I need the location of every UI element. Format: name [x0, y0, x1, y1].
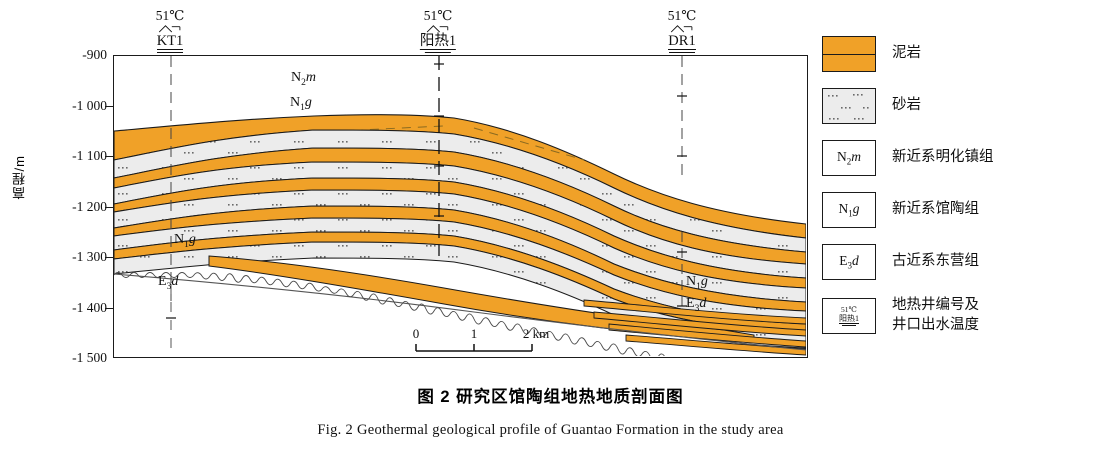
well-name: KT1: [157, 33, 184, 50]
legend-label: 砂岩: [892, 96, 921, 116]
cross-section-plot: N2m N1g N1g E3d N1g E3d: [113, 55, 808, 358]
well-name-underline: [669, 52, 695, 53]
legend-item-mudstone: 泥岩: [822, 28, 1094, 80]
n2m-code-swatch: N2m: [822, 140, 876, 176]
derrick-icon: [423, 24, 453, 33]
n1g-code-swatch: N1g: [822, 192, 876, 228]
well-name-underline: [425, 52, 451, 53]
well-temperature: 51℃: [155, 8, 185, 24]
n2m-code: N2m: [837, 149, 861, 167]
well-head-yangre1: 51℃ 阳热1: [420, 8, 456, 53]
well-symbol-temperature: 51℃: [841, 306, 857, 314]
well-name-underline: [157, 52, 183, 53]
well-name: 阳热1: [420, 33, 456, 50]
y-tick-label: -1 100: [41, 148, 107, 164]
y-tick-label: -1 200: [41, 199, 107, 215]
legend-item-e3d: E3d 古近系东营组: [822, 236, 1094, 288]
y-axis-tick-labels: -900 -1 000 -1 100 -1 200 -1 300 -1 400 …: [35, 0, 107, 375]
scale-tick-0: 0: [413, 326, 420, 342]
derrick-icon: [667, 24, 697, 33]
well-name: DR1: [668, 33, 695, 50]
well-temperature: 51℃: [667, 8, 697, 24]
formation-label-n1g-upper: N1g: [290, 95, 312, 113]
well-head-dr1: 51℃ DR1: [667, 8, 697, 53]
n1g-code: N1g: [839, 201, 860, 219]
formation-label-n2m: N2m: [291, 70, 316, 88]
legend: 泥岩 砂岩: [822, 28, 1094, 344]
y-tick-label: -1 000: [41, 98, 107, 114]
figure-caption-english: Fig. 2 Geothermal geological profile of …: [0, 422, 1101, 439]
legend-item-well-symbol: 51℃ 阳热1 地热井编号及 井口出水温度: [822, 288, 1094, 344]
scale-bar-graphic: [408, 342, 548, 356]
legend-label: 新近系馆陶组: [892, 200, 979, 220]
geological-profile-figure: 高程/m -900 -1 000 -1 100 -1 200 -1 300 -1…: [0, 0, 1101, 375]
derrick-icon: [155, 24, 185, 33]
e3d-code: E3d: [839, 253, 859, 271]
well-symbol-swatch: 51℃ 阳热1: [822, 298, 876, 334]
figure-caption-chinese: 图 2 研究区馆陶组地热地质剖面图: [0, 383, 1101, 407]
scale-tick-1: 1: [471, 326, 478, 342]
sandstone-swatch: [822, 88, 876, 124]
formation-label-e3d-left: E3d: [158, 274, 178, 292]
legend-label: 古近系东营组: [892, 252, 979, 272]
well-head-kt1: 51℃ KT1: [155, 8, 185, 53]
scale-tick-2: 2 km: [523, 326, 549, 342]
legend-label: 地热井编号及 井口出水温度: [892, 296, 979, 335]
legend-item-n1g: N1g 新近系馆陶组: [822, 184, 1094, 236]
figure-page: 高程/m -900 -1 000 -1 100 -1 200 -1 300 -1…: [0, 0, 1101, 453]
legend-item-n2m: N2m 新近系明化镇组: [822, 132, 1094, 184]
y-tick-label: -1 300: [41, 249, 107, 265]
legend-label: 新近系明化镇组: [892, 148, 994, 168]
well-symbol-underline: [842, 325, 856, 326]
y-tick-label: -1 500: [41, 350, 107, 366]
e3d-code-swatch: E3d: [822, 244, 876, 280]
y-tick-label: -1 400: [41, 300, 107, 316]
y-axis-title: 高程/m: [10, 155, 32, 199]
well-temperature: 51℃: [420, 8, 456, 24]
legend-label: 泥岩: [892, 44, 921, 64]
legend-item-sandstone: 砂岩: [822, 80, 1094, 132]
scale-bar: 0 1 2 km: [408, 326, 548, 356]
scale-bar-labels: 0 1 2 km: [408, 326, 548, 342]
formation-label-e3d-right: E3d: [686, 296, 706, 314]
y-tick-label: -900: [41, 47, 107, 63]
formation-label-n1g-left: N1g: [174, 232, 196, 250]
formation-label-n1g-right: N1g: [686, 274, 708, 292]
mudstone-swatch: [822, 36, 876, 72]
well-symbol-name: 阳热1: [839, 315, 859, 324]
